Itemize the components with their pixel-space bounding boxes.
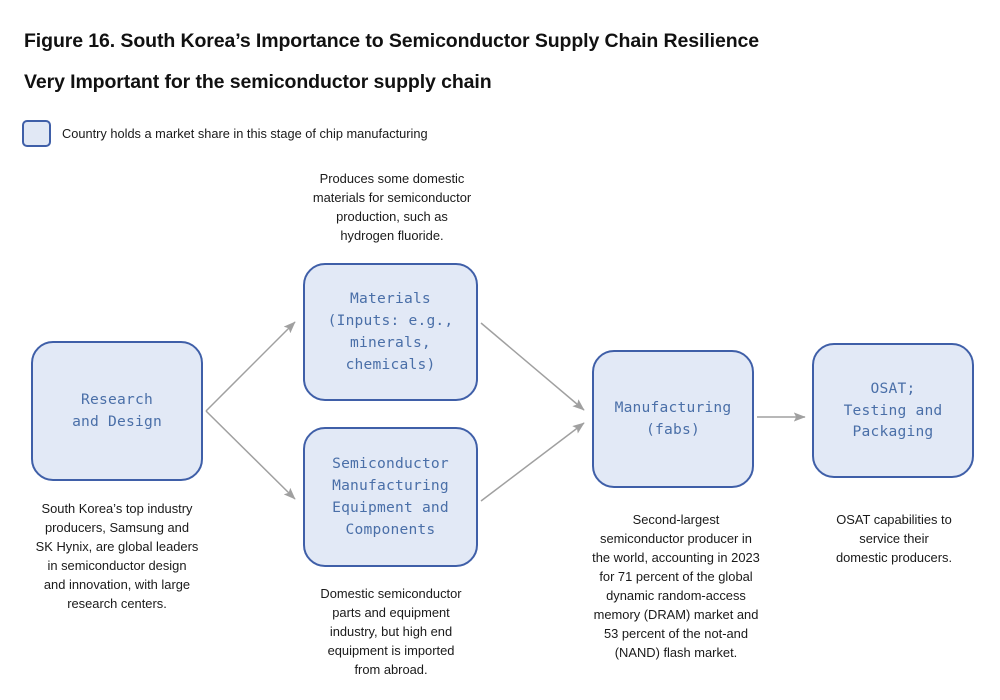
node-caption-research: South Korea’s top industry producers, Sa…: [14, 500, 220, 614]
page-title: Figure 16. South Korea’s Importance to S…: [24, 30, 759, 53]
flow-node-semiconductor-manufacturing-equipment[interactable]: Semiconductor Manufacturing Equipment an…: [303, 427, 478, 567]
flow-node-label: OSAT; Testing and Packaging: [844, 378, 943, 444]
legend: Country holds a market share in this sta…: [22, 120, 428, 147]
node-caption-osat: OSAT capabilities to service their domes…: [808, 511, 980, 568]
figure-canvas: Figure 16. South Korea’s Importance to S…: [0, 0, 1000, 700]
flow-node-label: Materials (Inputs: e.g., minerals, chemi…: [328, 288, 454, 376]
flow-node-label: Manufacturing (fabs): [615, 397, 732, 441]
node-caption-semiconductor-manufacturing-equipment: Domestic semiconductor parts and equipme…: [296, 585, 486, 680]
legend-swatch-icon: [22, 120, 51, 147]
flow-node-label: Research and Design: [72, 389, 162, 433]
flow-node-label: Semiconductor Manufacturing Equipment an…: [332, 453, 449, 541]
page-subtitle: Very Important for the semiconductor sup…: [24, 71, 492, 94]
legend-label: Country holds a market share in this sta…: [62, 126, 428, 141]
flow-node-research[interactable]: Research and Design: [31, 341, 203, 481]
flow-node-materials[interactable]: Materials (Inputs: e.g., minerals, chemi…: [303, 263, 478, 401]
flow-node-osat[interactable]: OSAT; Testing and Packaging: [812, 343, 974, 478]
node-caption-materials: Produces some domestic materials for sem…: [295, 170, 489, 246]
node-caption-manufacturing: Second-largest semiconductor producer in…: [578, 511, 774, 663]
flow-node-manufacturing[interactable]: Manufacturing (fabs): [592, 350, 754, 488]
